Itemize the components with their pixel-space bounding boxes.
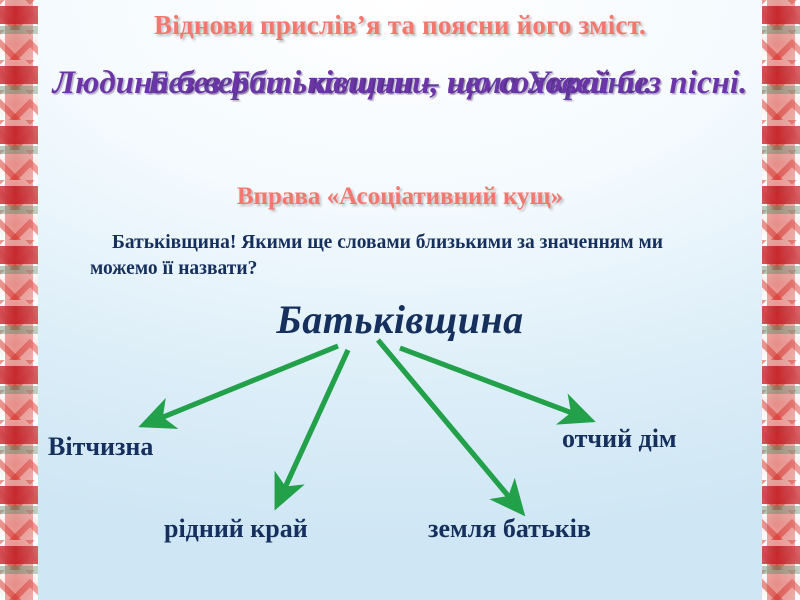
slide-title: Віднови прислів’я та поясни його зміст. <box>38 10 762 41</box>
exercise-question: Батьківщина! Якими ще словами близькими … <box>90 230 730 282</box>
association-vitchyzna: Вітчизна <box>48 432 153 462</box>
proverb-overlap-group: Без верби і калини – нема України. Людин… <box>38 62 762 172</box>
exercise-subtitle: Вправа «Асоціативний кущ» <box>38 183 762 211</box>
arrow-to-ridnyi-kray <box>278 350 348 503</box>
slide-canvas: Віднови прислів’я та поясни його зміст. … <box>0 0 800 600</box>
association-ridnyi-kray: рідний край <box>164 514 308 544</box>
arrow-to-vitchyzna <box>146 346 338 424</box>
proverb-primary-text: Людина без Батьківщини, що соловей без п… <box>38 62 762 104</box>
association-otchyi-dim: отчий дім <box>562 424 677 454</box>
arrow-to-zemlya-batkiv <box>378 340 520 510</box>
arrow-to-otchyi-dim <box>400 348 588 419</box>
cluster-center-word: Батьківщина <box>0 296 800 343</box>
association-zemlya-batkiv: земля батьків <box>428 514 591 544</box>
